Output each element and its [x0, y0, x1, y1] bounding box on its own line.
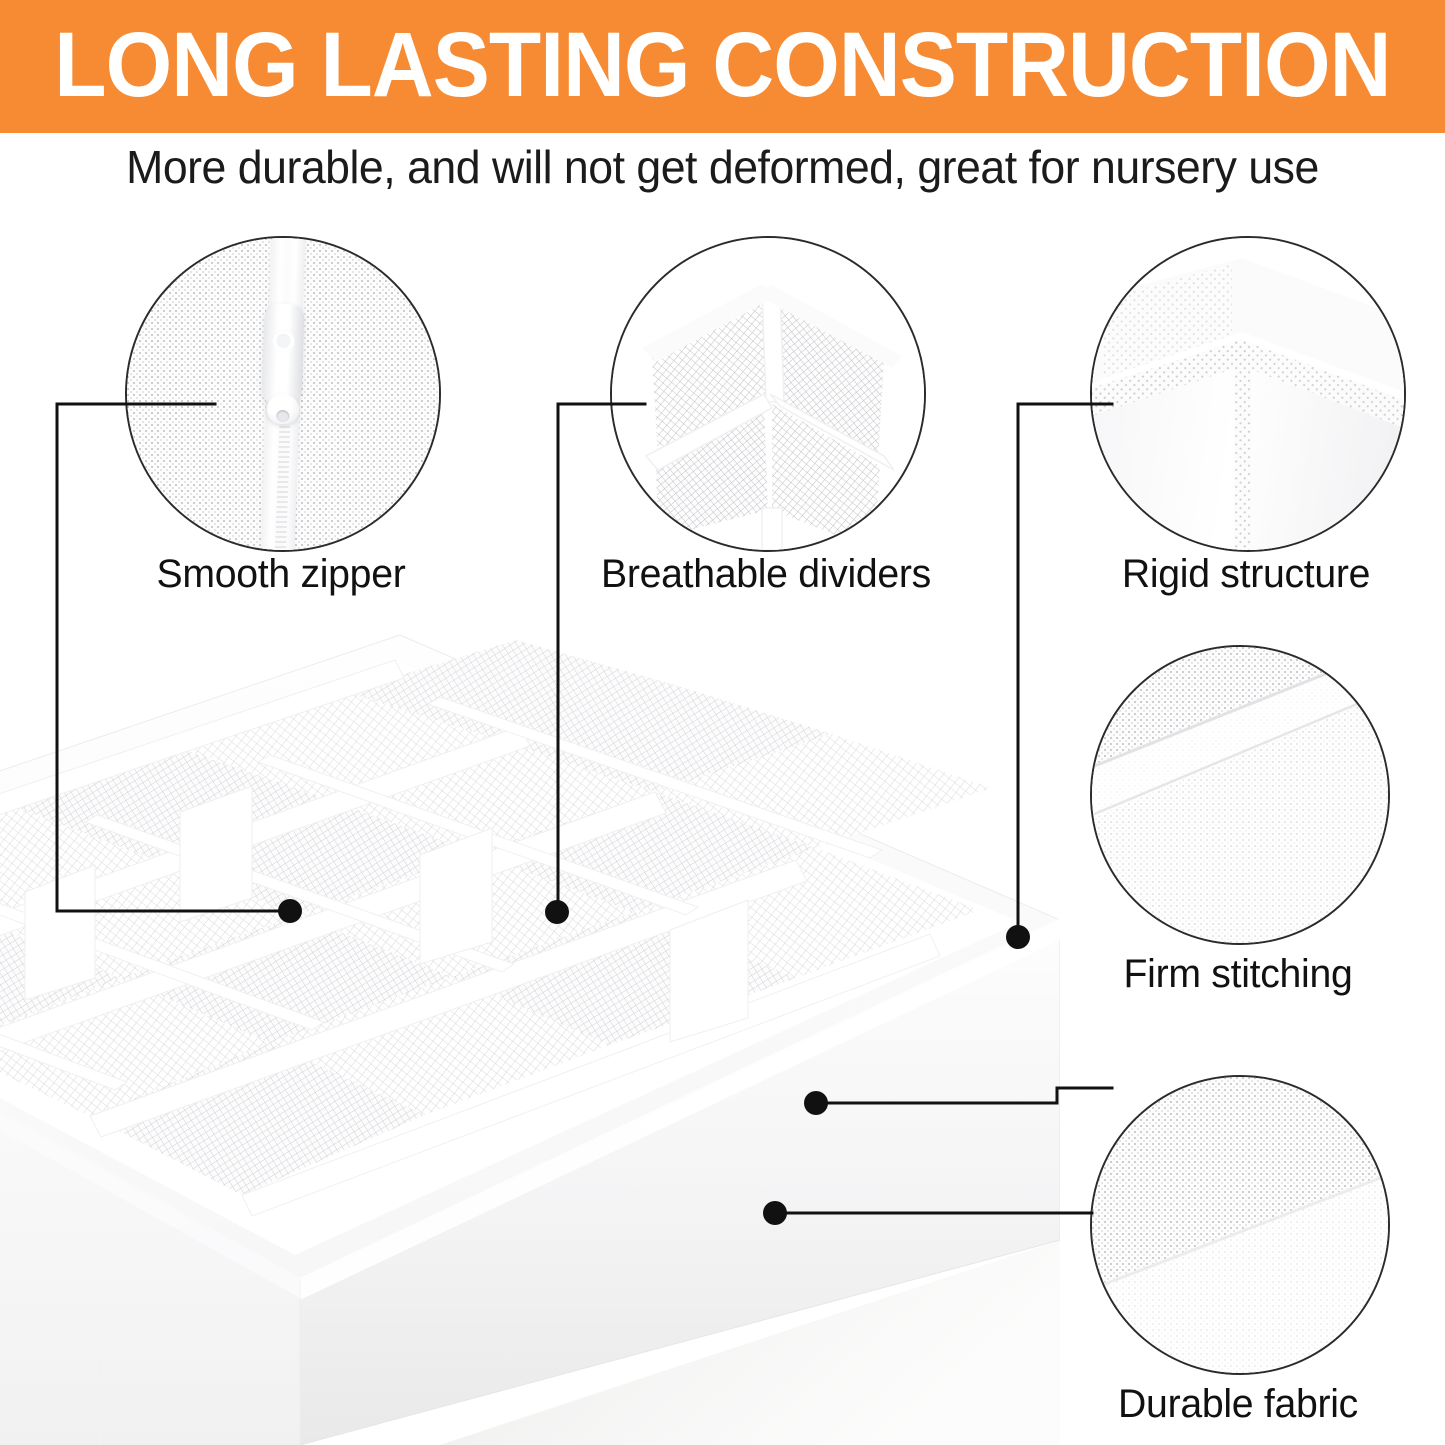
divider-detail-art [612, 238, 924, 550]
fabric-sheen-art [1092, 1077, 1388, 1373]
fabric-detail-circle [1090, 1075, 1390, 1375]
zipper-detail-circle [125, 236, 441, 552]
corner-detail-art [1092, 238, 1404, 550]
zipper-pull [266, 393, 299, 424]
product-image [0, 600, 1060, 1445]
zipper-slider [261, 303, 305, 407]
corner-structure-detail-circle [1090, 236, 1406, 552]
callout-label-smooth-zipper: Smooth zipper [128, 552, 434, 597]
zipper-slider-hole [272, 329, 295, 352]
stitching-detail-circle [1090, 645, 1390, 945]
mesh-divider-detail-circle [610, 236, 926, 552]
stitch-seam-art [1092, 647, 1388, 943]
callout-label-firm-stitching: Firm stitching [1073, 952, 1402, 997]
callout-label-durable-fabric: Durable fabric [1073, 1382, 1402, 1427]
callout-label-rigid-structure: Rigid structure [1081, 552, 1410, 597]
subtitle-text: More durable, and will not get deformed,… [22, 140, 1424, 194]
zipper-pull-hole [276, 409, 289, 421]
page-title: LONG LASTING CONSTRUCTION [54, 19, 1390, 111]
promo-graphic-page: LONG LASTING CONSTRUCTION More durable, … [0, 0, 1445, 1445]
header-banner: LONG LASTING CONSTRUCTION [0, 0, 1445, 133]
callout-label-breathable-dividers: Breathable dividers [590, 552, 943, 597]
